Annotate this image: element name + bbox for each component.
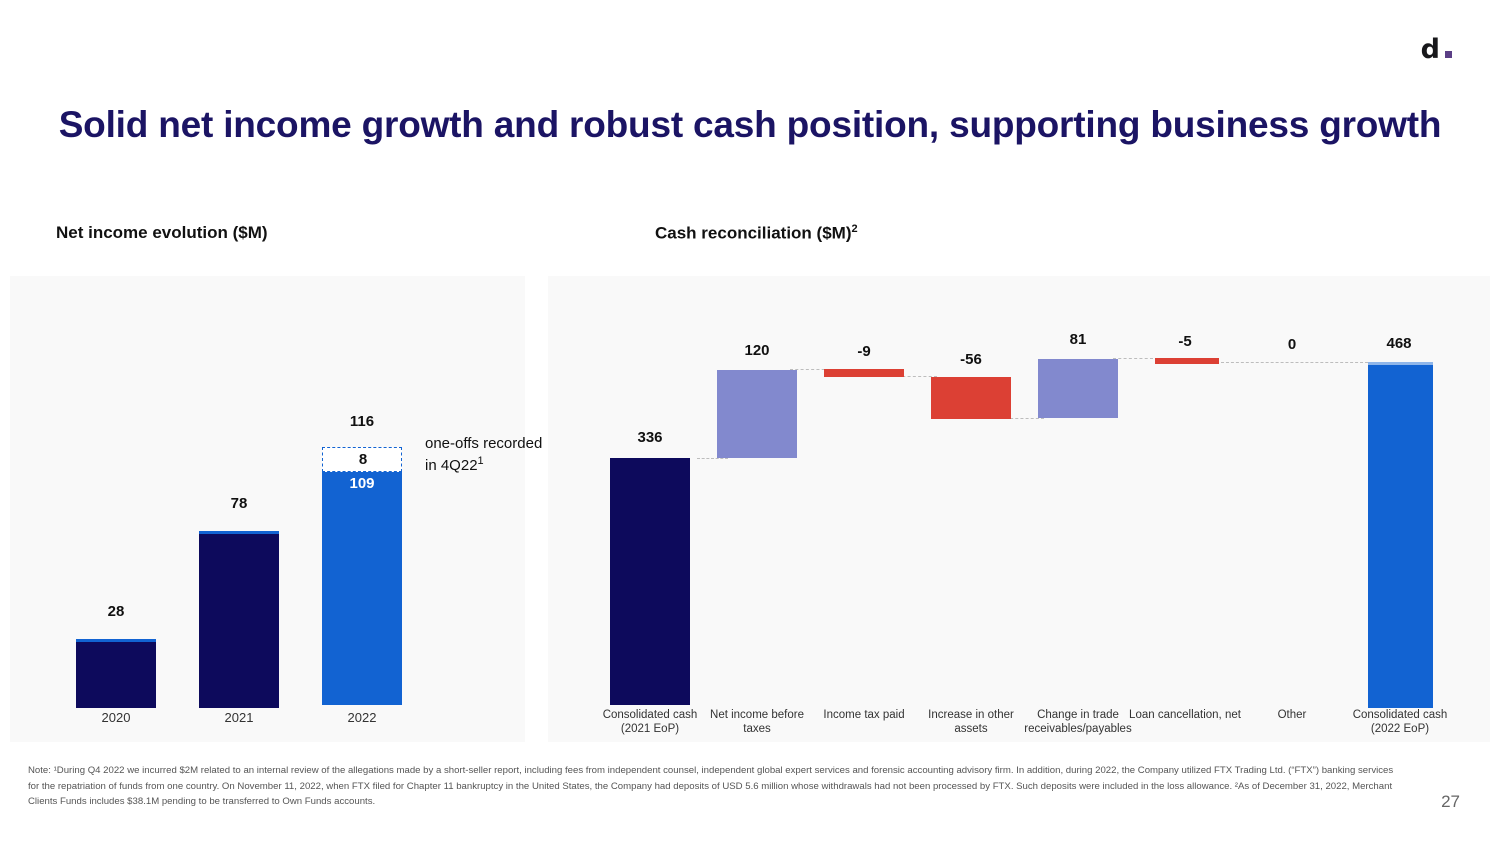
waterfall-value-label-net-income-before-taxes: 120 (711, 342, 803, 359)
waterfall-connector-5 (1113, 358, 1153, 359)
brand-logo: d (1421, 36, 1452, 63)
right-chart-heading: Cash reconciliation ($M)2 (655, 223, 858, 244)
bar-2021 (199, 531, 279, 708)
waterfall-connector-6 (1221, 362, 1368, 363)
waterfall-category-label-consolidated-cash-2021: Consolidated cash (2021 EoP) (592, 708, 708, 737)
bar-value-label-2021: 78 (193, 495, 285, 512)
waterfall-category-label-other: Other (1234, 708, 1350, 722)
waterfall-category-label-income-tax-paid: Income tax paid (806, 708, 922, 722)
bar-category-label-2021: 2021 (193, 710, 285, 725)
bar-2022-one-offs-value: 8 (323, 451, 403, 468)
waterfall-category-label-consolidated-cash-2022: Consolidated cash (2022 EoP) (1342, 708, 1458, 737)
waterfall-bar-loan-cancellation-net (1155, 358, 1219, 364)
left-chart-heading: Net income evolution ($M) (56, 223, 268, 243)
waterfall-category-label-net-income-before-taxes: Net income before taxes (699, 708, 815, 737)
bar-category-label-2022: 2022 (316, 710, 408, 725)
waterfall-category-label-increase-in-other-assets: Increase in other assets (913, 708, 1029, 737)
waterfall-bar-change-in-trade-receivables (1038, 359, 1118, 418)
bar-2022-net-income-value: 109 (322, 475, 402, 492)
waterfall-category-label-loan-cancellation-net: Loan cancellation, net (1127, 708, 1243, 722)
right-chart-heading-text: Cash reconciliation ($M) (655, 224, 851, 243)
waterfall-value-label-other: 0 (1246, 336, 1338, 353)
left-chart-heading-text: Net income evolution ($M) (56, 223, 268, 242)
bar-category-label-2020: 2020 (70, 710, 162, 725)
right-chart-heading-superscript: 2 (851, 223, 857, 235)
waterfall-value-label-consolidated-cash-2022: 468 (1353, 335, 1445, 352)
one-offs-annotation: one-offs recorded in 4Q221 (425, 434, 545, 476)
waterfall-category-label-change-in-trade-receivables: Change in trade receivables/payables (1020, 708, 1136, 737)
waterfall-value-label-increase-in-other-assets: -56 (925, 351, 1017, 368)
bar-total-label-2022: 116 (316, 413, 408, 430)
bar-2020 (76, 639, 156, 708)
waterfall-bar-consolidated-cash-2021 (610, 458, 690, 705)
waterfall-bar-consolidated-cash-2022 (1368, 362, 1433, 708)
footnote-text: Note: ¹During Q4 2022 we incurred $2M re… (28, 763, 1398, 810)
logo-dot-icon (1445, 51, 1452, 58)
bar-value-label-2020: 28 (70, 603, 162, 620)
bar-2022-net-income-segment: 109 (322, 472, 402, 705)
waterfall-value-label-consolidated-cash-2021: 336 (604, 429, 696, 446)
one-offs-annotation-superscript: 1 (478, 455, 484, 467)
waterfall-bar-net-income-before-taxes (717, 370, 797, 458)
waterfall-bar-increase-in-other-assets (931, 377, 1011, 419)
slide-title: Solid net income growth and robust cash … (0, 100, 1500, 149)
logo-letter-d: d (1421, 36, 1440, 63)
page-number: 27 (1441, 792, 1460, 812)
waterfall-value-label-loan-cancellation-net: -5 (1139, 333, 1231, 350)
waterfall-bar-income-tax-paid (824, 369, 904, 377)
waterfall-value-label-change-in-trade-receivables: 81 (1032, 331, 1124, 348)
bar-2022-one-offs-segment: 8 (322, 447, 402, 472)
waterfall-connector-1 (697, 458, 728, 459)
waterfall-value-label-income-tax-paid: -9 (818, 343, 910, 360)
